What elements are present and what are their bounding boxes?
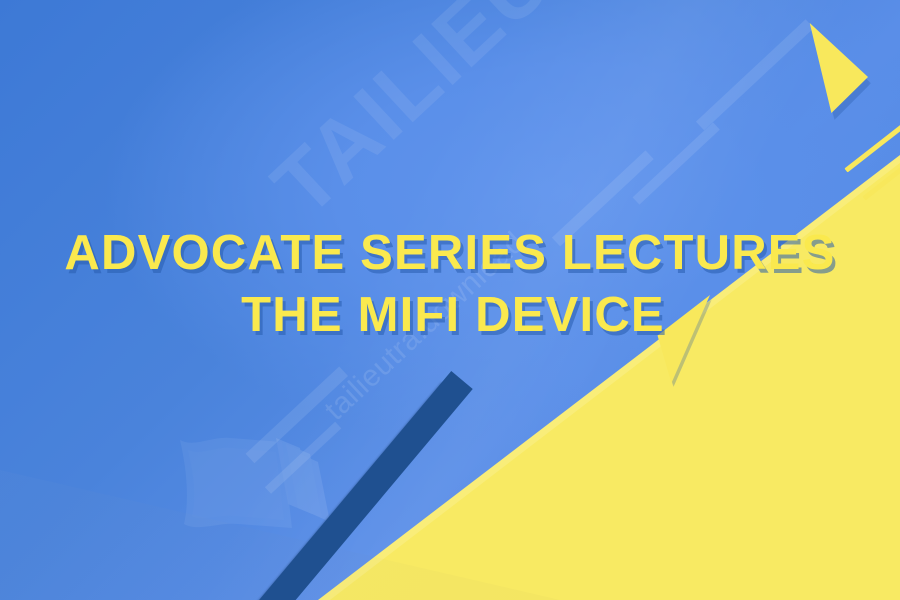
yellow-arrow-triangle-center [628, 295, 710, 383]
triangle-shape [628, 295, 710, 383]
lecture-banner: TAILIEUHAY tailieutra.download ADVOCATE … [0, 0, 900, 600]
